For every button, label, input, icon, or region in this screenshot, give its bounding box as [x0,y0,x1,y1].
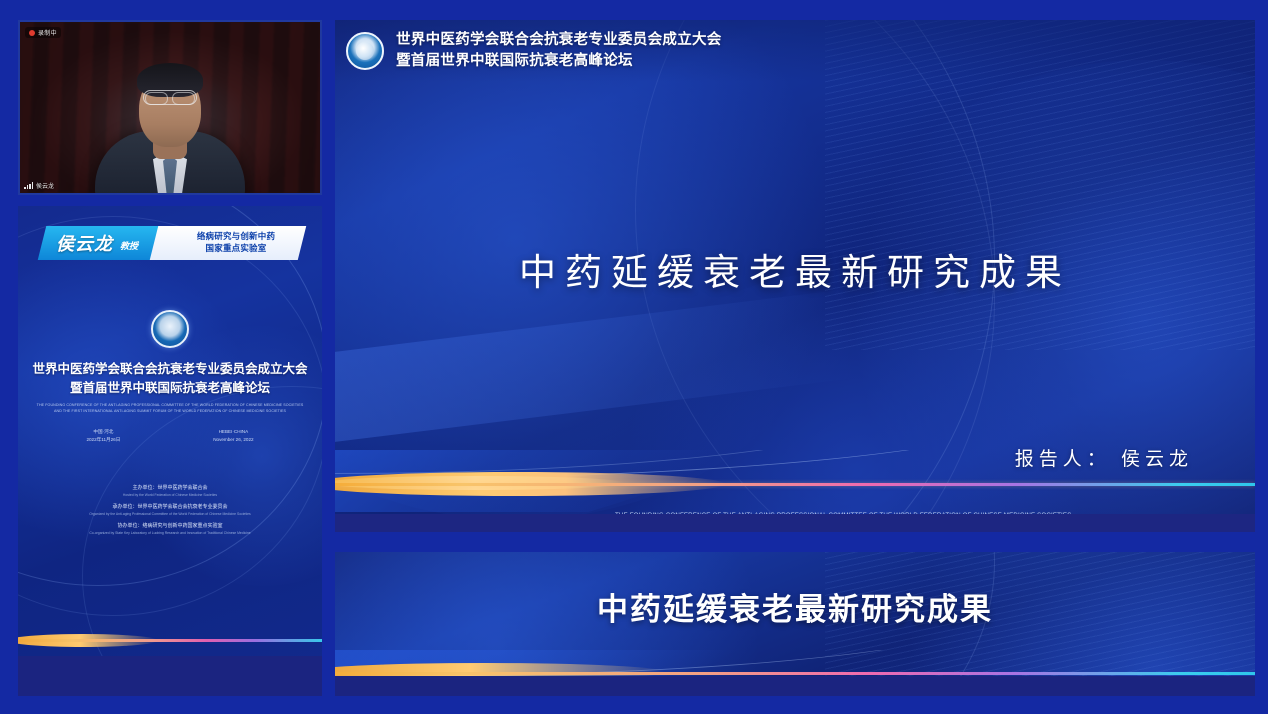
main-presentation-slide[interactable]: 世界中医药学会联合会抗衰老专业委员会成立大会 暨首届世界中联国际抗衰老高峰论坛 … [335,20,1255,532]
slide-header-line1: 世界中医药学会联合会抗衰老专业委员会成立大会 [396,30,722,51]
speaker-portrait [20,22,320,193]
slide-header-line2: 暨首届世界中联国际抗衰老高峰论坛 [396,51,722,72]
thumb-event-meta: 中国·河北 2022年11月26日 HEBEI·CHINA November 2… [40,428,300,444]
thumb-org3-en: Co-organized by State Key Laboratory of … [32,530,308,536]
thumb-wave-band [18,639,322,642]
sub-slide-wave-decor [335,650,1255,696]
slide-wave-decor [335,450,1255,512]
thumb-location-cn-block: 中国·河北 2022年11月26日 [86,428,120,444]
thumb-org1-en: Hosted by the World Federation of Chines… [32,492,308,498]
glasses-icon [143,90,197,105]
sub-wave-gradient-band [335,672,1255,675]
thumb-location-en: HEBEI·CHINA [213,428,253,436]
conference-emblem-icon [151,310,189,348]
slide-main-title: 中药延缓衰老最新研究成果 [335,242,1255,296]
thumb-wave-decor [18,628,322,656]
recording-label: 录制中 [38,28,57,37]
thumb-org1-cn: 主办单位：世界中医药学会联合会 [32,484,308,492]
webinar-stage: 录制中 侯云龙 侯云龙 教授 络病研究与创新中药 [0,0,1268,714]
thumb-title-line1: 世界中医药学会联合会抗衰老专业委员会成立大会 [28,360,312,379]
thumb-date-cn: 2022年11月26日 [86,436,120,444]
ribbon-presenter-name: 侯云龙 [56,230,113,256]
thumb-decor [18,206,322,696]
wave-gradient-band [335,483,1255,486]
slide-header: 世界中医药学会联合会抗衰老专业委员会成立大会 暨首届世界中联国际抗衰老高峰论坛 [335,20,1255,82]
thumb-bottom-strip [18,656,322,696]
presenter-ribbon: 侯云龙 教授 络病研究与创新中药 国家重点实验室 [42,226,298,260]
slide-thumbnail[interactable]: 侯云龙 教授 络病研究与创新中药 国家重点实验室 世界中医药学会联合会抗衰老专业… [18,206,322,696]
left-column: 录制中 侯云龙 侯云龙 教授 络病研究与创新中药 [18,20,322,696]
thumb-location-cn: 中国·河北 [86,428,120,436]
conference-emblem-icon [346,32,384,70]
thumb-location-en-block: HEBEI·CHINA November 26, 2022 [213,428,253,444]
thumb-date-en: November 26, 2022 [213,436,253,444]
record-dot-icon [29,30,35,36]
sub-wave-floor [335,676,1255,696]
participant-name-badge: 侯云龙 [24,181,54,190]
ribbon-presenter-title: 教授 [120,239,138,252]
participant-name: 侯云龙 [36,181,54,190]
recording-badge: 录制中 [25,27,61,38]
thumb-organizers: 主办单位：世界中医药学会联合会 Hosted by the World Fede… [32,484,308,541]
thumb-org2-cn: 承办单位：世界中医药学会联合会抗衰老专业委员会 [32,503,308,511]
ribbon-lab-line1: 络病研究与创新中药 [174,230,298,242]
thumb-conference-title: 世界中医药学会联合会抗衰老专业委员会成立大会 暨首届世界中联国际抗衰老高峰论坛 [28,360,312,398]
thumb-org2-en: Organized by the Anti-aging Professional… [32,511,308,517]
speaker-video-tile[interactable]: 录制中 侯云龙 [18,20,322,195]
slide-header-text: 世界中医药学会联合会抗衰老专业委员会成立大会 暨首届世界中联国际抗衰老高峰论坛 [396,30,722,72]
secondary-slide-panel[interactable]: 中药延缓衰老最新研究成果 [335,552,1255,696]
slide-bottom-strip [335,514,1255,532]
signal-bars-icon [24,182,33,189]
thumb-title-line2: 暨首届世界中联国际抗衰老高峰论坛 [28,379,312,398]
ribbon-lab-name: 络病研究与创新中药 国家重点实验室 [174,230,298,254]
sub-slide-title: 中药延缓衰老最新研究成果 [335,584,1255,629]
ribbon-lab-line2: 国家重点实验室 [174,242,298,254]
thumb-org3-cn: 协办单位：络病研究与创新中药国家重点实验室 [32,522,308,530]
thumb-en-line2: AND THE FIRST INTERNATIONAL ANTI-AGING S… [32,408,308,414]
thumb-conference-title-en: THE FOUNDING CONFERENCE OF THE ANTI-AGIN… [32,402,308,414]
